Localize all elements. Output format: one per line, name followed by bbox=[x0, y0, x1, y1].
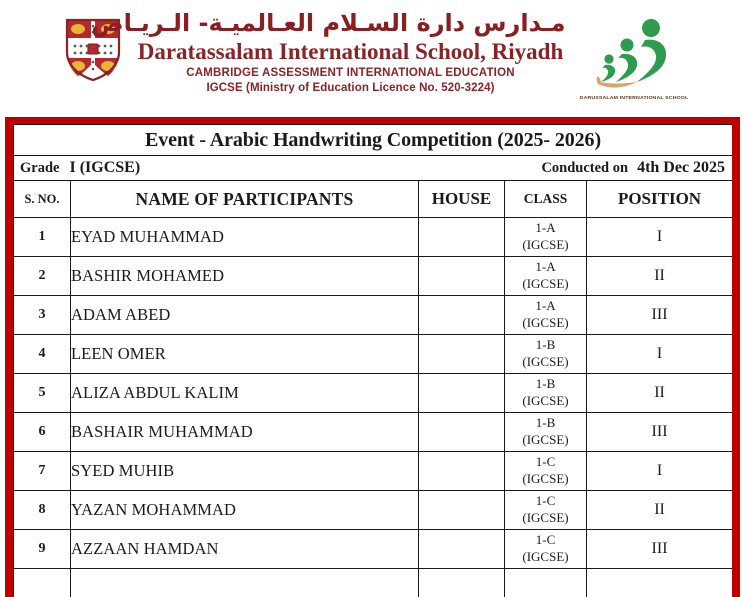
row-class: 1-B (IGCSE) bbox=[505, 335, 587, 374]
row-name: YAZAN MOHAMMAD bbox=[71, 491, 419, 530]
row-class: 1-A (IGCSE) bbox=[505, 257, 587, 296]
row-house bbox=[419, 296, 505, 335]
row-sno: 8 bbox=[14, 491, 71, 530]
row-sno: 7 bbox=[14, 452, 71, 491]
row-class-code: 1-C bbox=[505, 532, 586, 549]
table-row: 1 EYAD MUHAMMAD 1-A (IGCSE) I bbox=[14, 218, 733, 257]
conducted-date: 4th Dec 2025 bbox=[637, 159, 725, 176]
conducted-group: Conducted on 4th Dec 2025 bbox=[541, 159, 725, 177]
row-position: II bbox=[587, 491, 733, 530]
row-position: I bbox=[587, 218, 733, 257]
row-name: BASHAIR MUHAMMAD bbox=[71, 413, 419, 452]
row-sno: 5 bbox=[14, 374, 71, 413]
row-class-code: 1-B bbox=[505, 376, 586, 393]
row-class-program: (IGCSE) bbox=[505, 237, 586, 254]
row-house bbox=[419, 530, 505, 569]
table-row: 2 BASHIR MOHAMED 1-A (IGCSE) II bbox=[14, 257, 733, 296]
participants-table: Event - Arabic Handwriting Competition (… bbox=[13, 124, 732, 597]
row-sno: 9 bbox=[14, 530, 71, 569]
row-class-program: (IGCSE) bbox=[505, 315, 586, 332]
conducted-label: Conducted on bbox=[541, 160, 628, 176]
row-class: 1-B (IGCSE) bbox=[505, 374, 587, 413]
accreditation-line: CAMBRIDGE ASSESSMENT INTERNATIONAL EDUCA… bbox=[136, 67, 566, 79]
row-class: 1-A (IGCSE) bbox=[505, 296, 587, 335]
row-class-code: 1-A bbox=[505, 220, 586, 237]
row-position: III bbox=[587, 413, 733, 452]
row-house bbox=[419, 491, 505, 530]
row-sno: 6 bbox=[14, 413, 71, 452]
row-name: LEEN OMER bbox=[71, 335, 419, 374]
row-position: I bbox=[587, 335, 733, 374]
row-class-program: (IGCSE) bbox=[505, 354, 586, 371]
column-header-name: NAME OF PARTICIPANTS bbox=[71, 181, 419, 218]
logo-caption: DARUSSALAM INTERNATIONAL SCHOOL bbox=[566, 95, 701, 100]
row-class-code: 1-B bbox=[505, 415, 586, 432]
red-border-frame: Event - Arabic Handwriting Competition (… bbox=[5, 117, 740, 597]
table-row: 7 SYED MUHIB 1-C (IGCSE) I bbox=[14, 452, 733, 491]
school-name-english: Daratassalam International School, Riyad… bbox=[136, 39, 566, 64]
row-name: SYED MUHIB bbox=[71, 452, 419, 491]
row-class: 1-A (IGCSE) bbox=[505, 218, 587, 257]
table-row: 5 ALIZA ABDUL KALIM 1-B (IGCSE) II bbox=[14, 374, 733, 413]
table-row: 9 AZZAAN HAMDAN 1-C (IGCSE) III bbox=[14, 530, 733, 569]
row-sno: 1 bbox=[14, 218, 71, 257]
row-position: II bbox=[587, 374, 733, 413]
row-name: AZZAAN HAMDAN bbox=[71, 530, 419, 569]
row-house bbox=[419, 335, 505, 374]
row-class-code: 1-C bbox=[505, 454, 586, 471]
row-position: III bbox=[587, 296, 733, 335]
row-class: 1-C (IGCSE) bbox=[505, 491, 587, 530]
row-name: BASHIR MOHAMED bbox=[71, 257, 419, 296]
row-house bbox=[419, 257, 505, 296]
row-class-code: 1-B bbox=[505, 337, 586, 354]
row-class-program: (IGCSE) bbox=[505, 471, 586, 488]
daratassalam-green-figures-logo-icon: DARUSSALAM INTERNATIONAL SCHOOL bbox=[580, 8, 688, 100]
row-house bbox=[419, 452, 505, 491]
row-position: I bbox=[587, 452, 733, 491]
table-row: 4 LEEN OMER 1-B (IGCSE) I bbox=[14, 335, 733, 374]
table-row: 8 YAZAN MOHAMMAD 1-C (IGCSE) II bbox=[14, 491, 733, 530]
column-header-position: POSITION bbox=[587, 181, 733, 218]
row-sno: 4 bbox=[14, 335, 71, 374]
row-class-program: (IGCSE) bbox=[505, 510, 586, 527]
column-header-class: CLASS bbox=[505, 181, 587, 218]
row-sno: 3 bbox=[14, 296, 71, 335]
table-row: 6 BASHAIR MUHAMMAD 1-B (IGCSE) III bbox=[14, 413, 733, 452]
column-header-house: HOUSE bbox=[419, 181, 505, 218]
row-position: III bbox=[587, 530, 733, 569]
grade-group: Grade I (IGCSE) bbox=[20, 159, 140, 177]
row-house bbox=[419, 218, 505, 257]
row-position: II bbox=[587, 257, 733, 296]
event-title-row: Event - Arabic Handwriting Competition (… bbox=[14, 125, 733, 156]
licence-line: IGCSE (Ministry of Education Licence No.… bbox=[136, 82, 566, 94]
row-class-code: 1-A bbox=[505, 298, 586, 315]
table-row: 3 ADAM ABED 1-A (IGCSE) III bbox=[14, 296, 733, 335]
letterhead-text-block: مـدارس دارة السـلام العـالميـة- الـريـاض… bbox=[136, 8, 566, 94]
row-class: 1-C (IGCSE) bbox=[505, 452, 587, 491]
grade-label: Grade bbox=[20, 160, 59, 176]
grade-and-date-row: Grade I (IGCSE) Conducted on 4th Dec 202… bbox=[14, 156, 733, 181]
row-sno: 2 bbox=[14, 257, 71, 296]
row-name: ALIZA ABDUL KALIM bbox=[71, 374, 419, 413]
letterhead: مـدارس دارة السـلام العـالميـة- الـريـاض… bbox=[0, 0, 745, 115]
column-header-sno: S. NO. bbox=[14, 181, 71, 218]
row-class-program: (IGCSE) bbox=[505, 393, 586, 410]
school-name-arabic: مـدارس دارة السـلام العـالميـة- الـريـاض bbox=[136, 10, 566, 38]
column-header-row: S. NO. NAME OF PARTICIPANTS HOUSE CLASS … bbox=[14, 181, 733, 218]
row-name: EYAD MUHAMMAD bbox=[71, 218, 419, 257]
document-sheet: Event - Arabic Handwriting Competition (… bbox=[13, 124, 732, 597]
row-class-program: (IGCSE) bbox=[505, 432, 586, 449]
row-class-code: 1-A bbox=[505, 259, 586, 276]
row-name: ADAM ABED bbox=[71, 296, 419, 335]
row-class: 1-B (IGCSE) bbox=[505, 413, 587, 452]
row-house bbox=[419, 413, 505, 452]
row-house bbox=[419, 374, 505, 413]
row-class: 1-C (IGCSE) bbox=[505, 530, 587, 569]
row-class-program: (IGCSE) bbox=[505, 549, 586, 566]
row-class-code: 1-C bbox=[505, 493, 586, 510]
row-class-program: (IGCSE) bbox=[505, 276, 586, 293]
event-title: Event - Arabic Handwriting Competition (… bbox=[14, 125, 733, 156]
grade-value: I (IGCSE) bbox=[69, 159, 140, 176]
